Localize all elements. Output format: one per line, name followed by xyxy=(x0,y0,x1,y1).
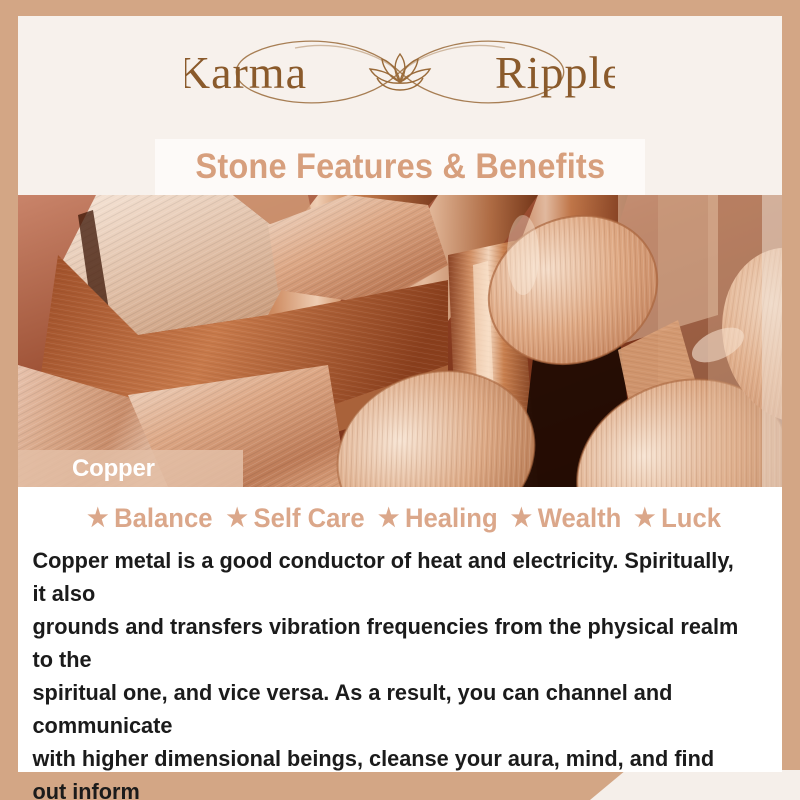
benefit-item: ★ Balance xyxy=(80,503,212,534)
photo-artwork xyxy=(18,195,782,487)
star-icon: ★ xyxy=(511,506,532,531)
logo-word-right: Ripple xyxy=(495,47,615,98)
star-icon: ★ xyxy=(634,506,655,531)
infographic-card: Karma Ripple Stone Features & Benefits xyxy=(0,0,800,800)
benefit-item: ★ Self Care xyxy=(220,503,365,534)
logo-word-left: Karma xyxy=(185,47,307,98)
benefit-label: Wealth xyxy=(538,503,622,534)
benefit-item: ★ Healing xyxy=(372,503,498,534)
benefits-list: ★ Balance ★ Self Care ★ Healing ★ Wealth… xyxy=(18,487,782,534)
copper-bars-photo xyxy=(18,195,782,487)
benefit-item: ★ Luck xyxy=(627,503,721,534)
title-band: Stone Features & Benefits xyxy=(155,139,645,195)
photo-caption: Copper xyxy=(18,455,155,483)
content-panel: ★ Balance ★ Self Care ★ Healing ★ Wealth… xyxy=(18,487,782,772)
benefit-label: Balance xyxy=(114,503,212,534)
frame-corner-accent xyxy=(782,0,800,16)
photo-caption-band: Copper xyxy=(18,450,243,487)
description-line: spiritual one, and vice versa. As a resu… xyxy=(32,676,743,742)
star-icon: ★ xyxy=(378,506,399,531)
star-icon: ★ xyxy=(226,506,247,531)
benefit-label: Self Care xyxy=(253,503,364,534)
description-line: with higher dimensional beings, cleanse … xyxy=(32,742,743,800)
benefit-item: ★ Wealth xyxy=(504,503,621,534)
page-title: Stone Features & Benefits xyxy=(195,147,605,187)
description-line: grounds and transfers vibration frequenc… xyxy=(32,610,743,676)
benefit-label: Healing xyxy=(405,503,498,534)
star-icon: ★ xyxy=(87,506,108,531)
description-line: Copper metal is a good conductor of heat… xyxy=(32,544,743,610)
logo-artwork: Karma Ripple xyxy=(185,26,615,118)
benefit-label: Luck xyxy=(661,503,721,534)
description-text: Copper metal is a good conductor of heat… xyxy=(18,534,755,800)
brand-logo: Karma Ripple xyxy=(0,26,800,118)
